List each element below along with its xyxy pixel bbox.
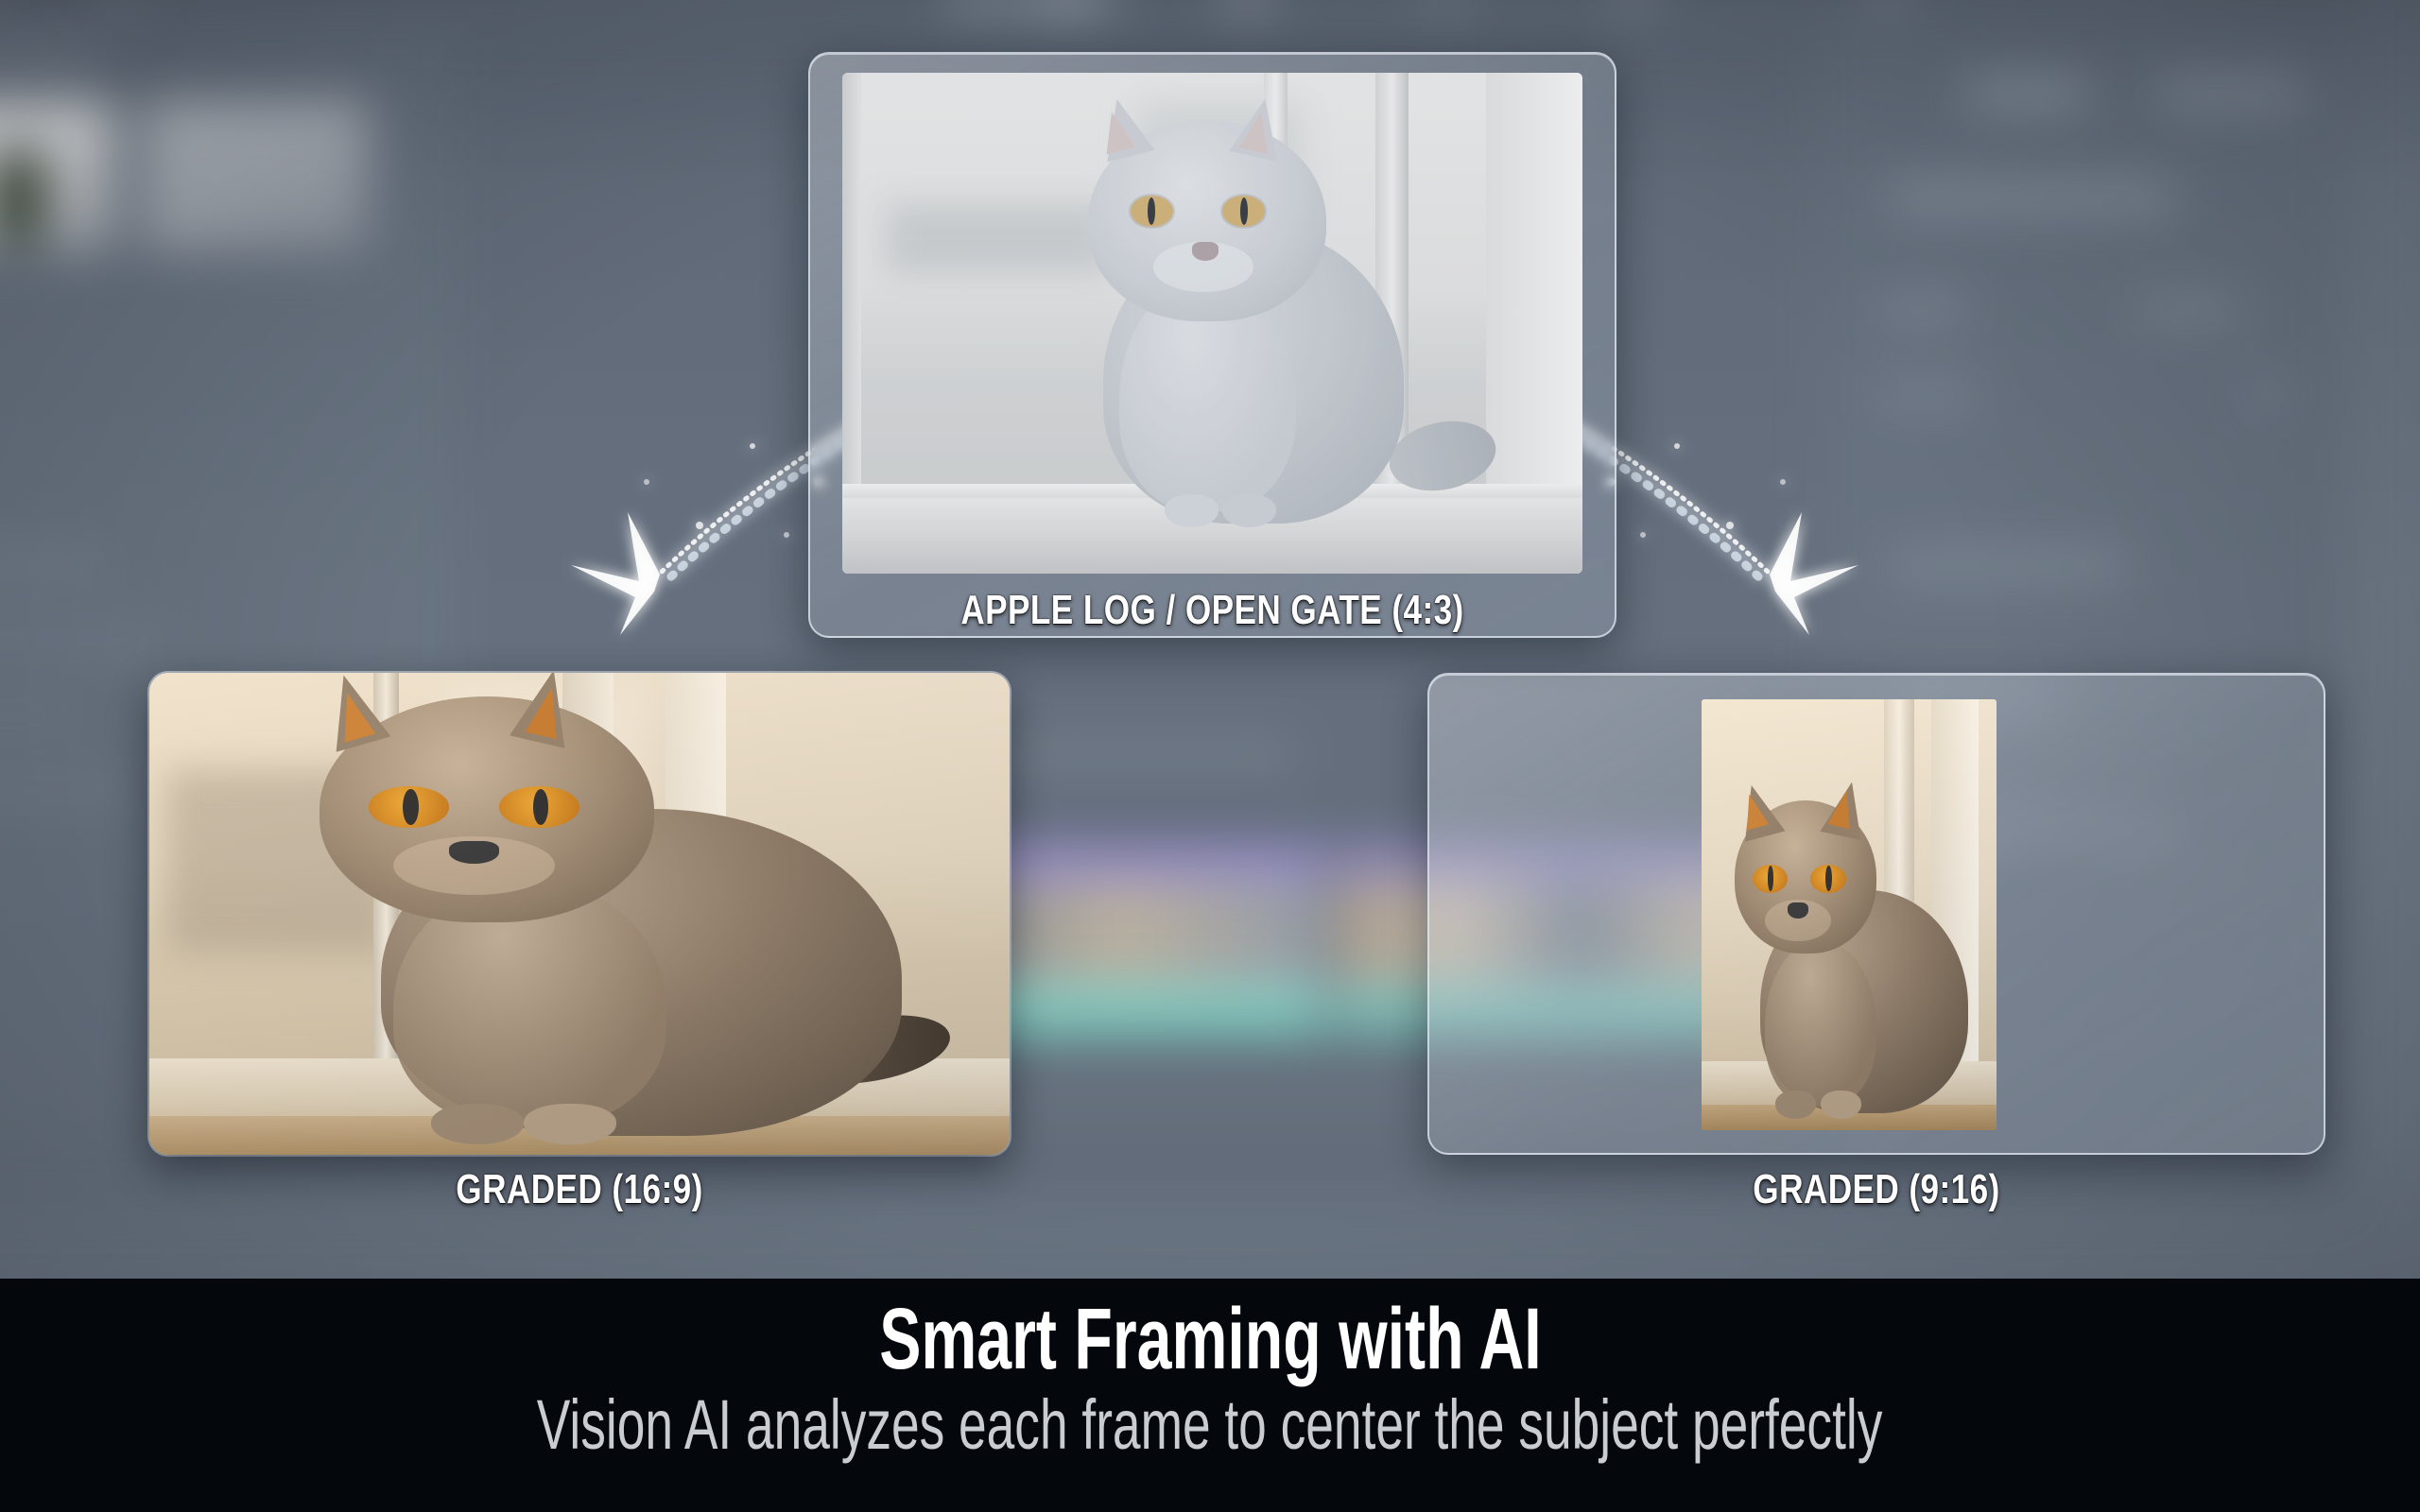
lower-third-bar: Smart Framing with AI Vision AI analyzes… bbox=[0, 1279, 2420, 1512]
tool-bar bbox=[0, 0, 2344, 25]
graded-9-16-caption: GRADED (9:16) bbox=[1517, 1166, 2236, 1213]
graded-16-9-thumbnail[interactable] bbox=[149, 673, 1010, 1155]
source-card-caption: APPLE LOG / OPEN GATE (4:3) bbox=[890, 587, 1536, 634]
graded-9-16-card[interactable]: GRADED (9:16) bbox=[1427, 673, 2325, 1155]
lower-third-title: Smart Framing with AI bbox=[879, 1296, 1542, 1383]
window-scene-graded-wide bbox=[149, 673, 1010, 1155]
window-scene-log bbox=[842, 73, 1582, 574]
graded-16-9-card[interactable]: GRADED (16:9) bbox=[149, 673, 1010, 1155]
source-clip-card[interactable]: APPLE LOG / OPEN GATE (4:3) bbox=[808, 52, 1616, 638]
source-clip-thumbnail[interactable] bbox=[842, 73, 1582, 574]
graded-9-16-thumbnail[interactable] bbox=[1702, 699, 1996, 1130]
window-scene-graded-vertical bbox=[1702, 699, 1996, 1130]
lower-third-subtitle: Vision AI analyzes each frame to center … bbox=[537, 1390, 1883, 1460]
graded-16-9-caption: GRADED (16:9) bbox=[235, 1166, 924, 1213]
screenshot-root: APPLE LOG / OPEN GATE (4:3) bbox=[0, 0, 2420, 1512]
